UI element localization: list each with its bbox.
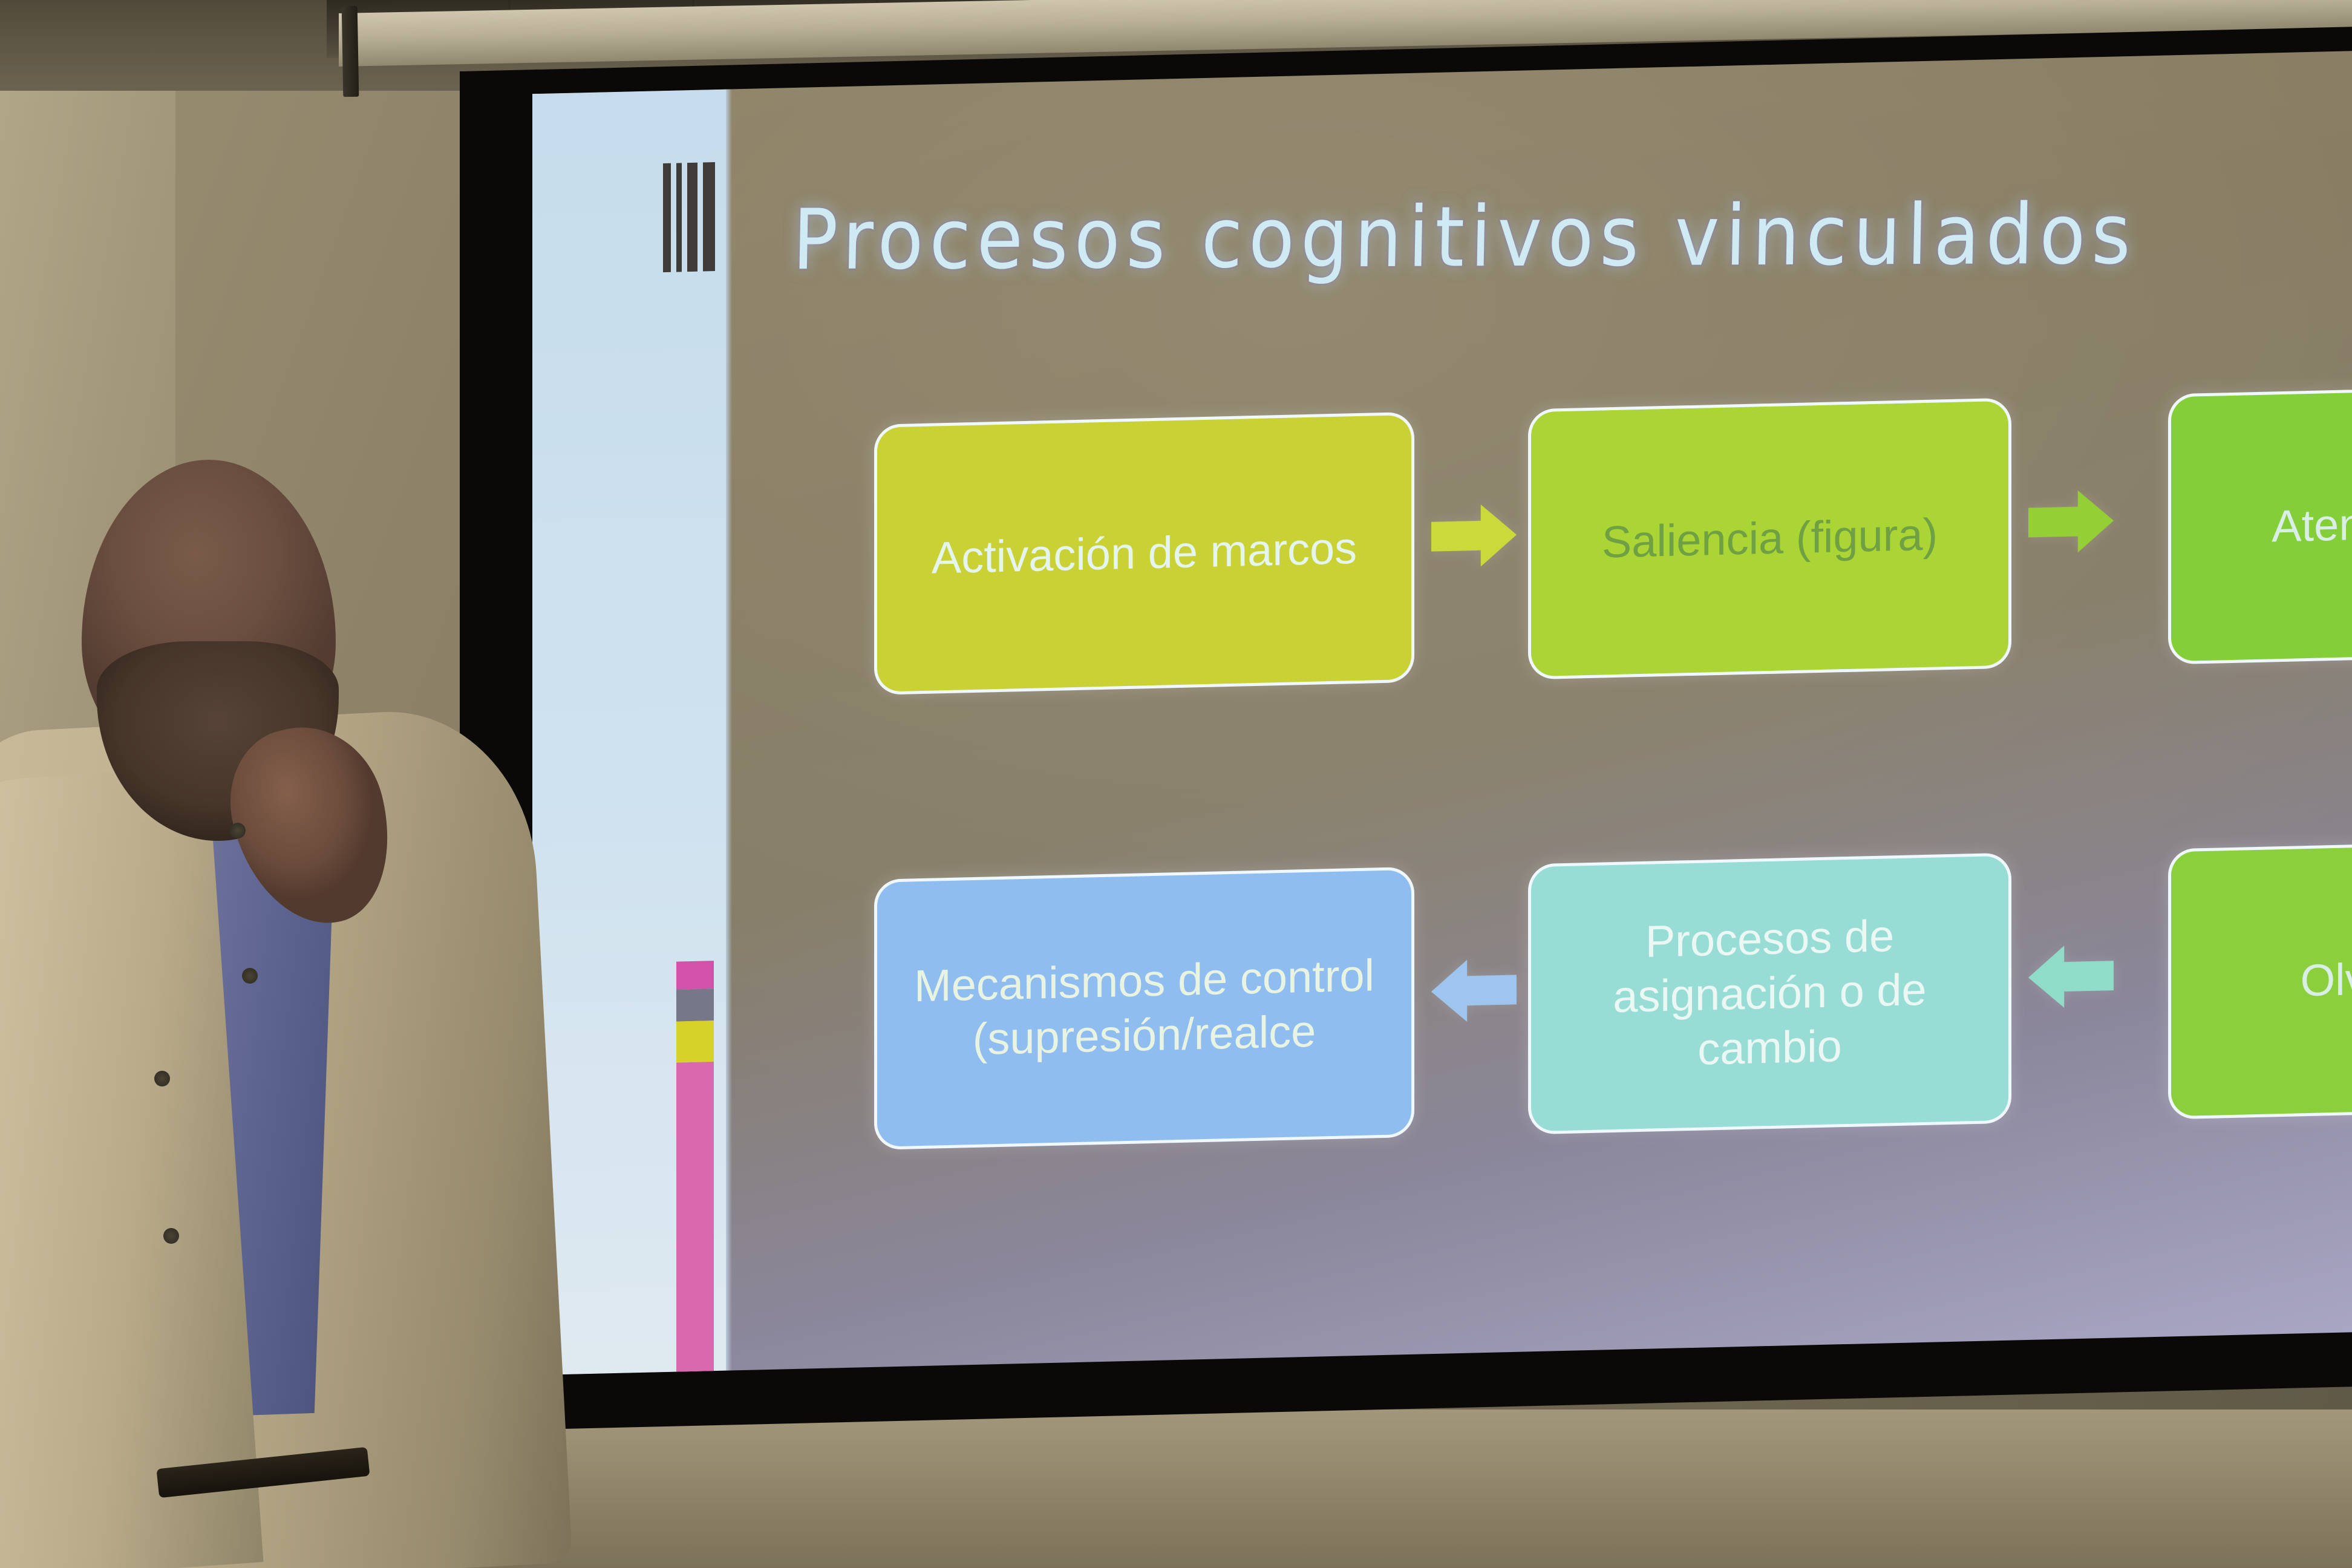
barcode-decoration-icon bbox=[663, 162, 721, 272]
flow-node-activacion-de-marcos[interactable]: Activación de marcos bbox=[874, 412, 1414, 695]
color-bar-decoration bbox=[676, 961, 714, 1375]
screen-roller-bracket bbox=[342, 6, 359, 97]
flow-node-label: Activación de marcos bbox=[932, 521, 1357, 586]
slide-left-panel-edge bbox=[726, 89, 732, 1370]
arrow-activacion-to-saliencia-icon bbox=[1431, 498, 1517, 574]
slide-title: Procesos cognitivos vinculados bbox=[792, 185, 2294, 289]
color-bar-segment-yellow bbox=[676, 1021, 714, 1063]
flow-node-label: Mecanismos de control (supresión/realce bbox=[895, 948, 1393, 1069]
flow-node-mecanismos-de-control[interactable]: Mecanismos de control (supresión/realce bbox=[874, 867, 1414, 1150]
flow-node-olvidos-fondo[interactable]: Olvidos (fondo) bbox=[2168, 835, 2352, 1119]
arrow-olvidos-to-procesos-icon bbox=[2028, 938, 2114, 1014]
flow-node-label: Atención selectiva bbox=[2272, 491, 2352, 554]
flow-node-label: Olvidos (fondo) bbox=[2301, 947, 2352, 1008]
flow-node-label: Procesos de asignación o de cambio bbox=[1549, 906, 1990, 1080]
flow-node-procesos-de-asignacion-o-de-cambio[interactable]: Procesos de asignación o de cambio bbox=[1528, 853, 2011, 1134]
arrow-procesos-to-mecanismos-icon bbox=[1431, 953, 1517, 1029]
flow-node-atencion-selectiva[interactable]: Atención selectiva bbox=[2168, 381, 2352, 664]
color-bar-segment-magenta-long bbox=[676, 1062, 714, 1375]
color-bar-segment-gray bbox=[676, 988, 714, 1022]
photo-scene: Procesos cognitivos vinculados Activació… bbox=[0, 0, 2352, 1568]
projection-screen: Procesos cognitivos vinculados Activació… bbox=[460, 27, 2352, 1431]
flow-diagram: Activación de marcosSaliencia (figura)At… bbox=[732, 390, 2352, 1370]
room-wall-left-column bbox=[0, 0, 175, 1568]
projected-slide: Procesos cognitivos vinculados Activació… bbox=[532, 51, 2352, 1375]
arrow-saliencia-to-atencion-icon bbox=[2028, 483, 2114, 560]
color-bar-segment-magenta-top bbox=[676, 961, 714, 989]
flow-node-label: Saliencia (figura) bbox=[1602, 508, 1938, 570]
room-wall-lower bbox=[0, 1410, 2352, 1568]
flow-node-saliencia-figura[interactable]: Saliencia (figura) bbox=[1528, 398, 2011, 679]
